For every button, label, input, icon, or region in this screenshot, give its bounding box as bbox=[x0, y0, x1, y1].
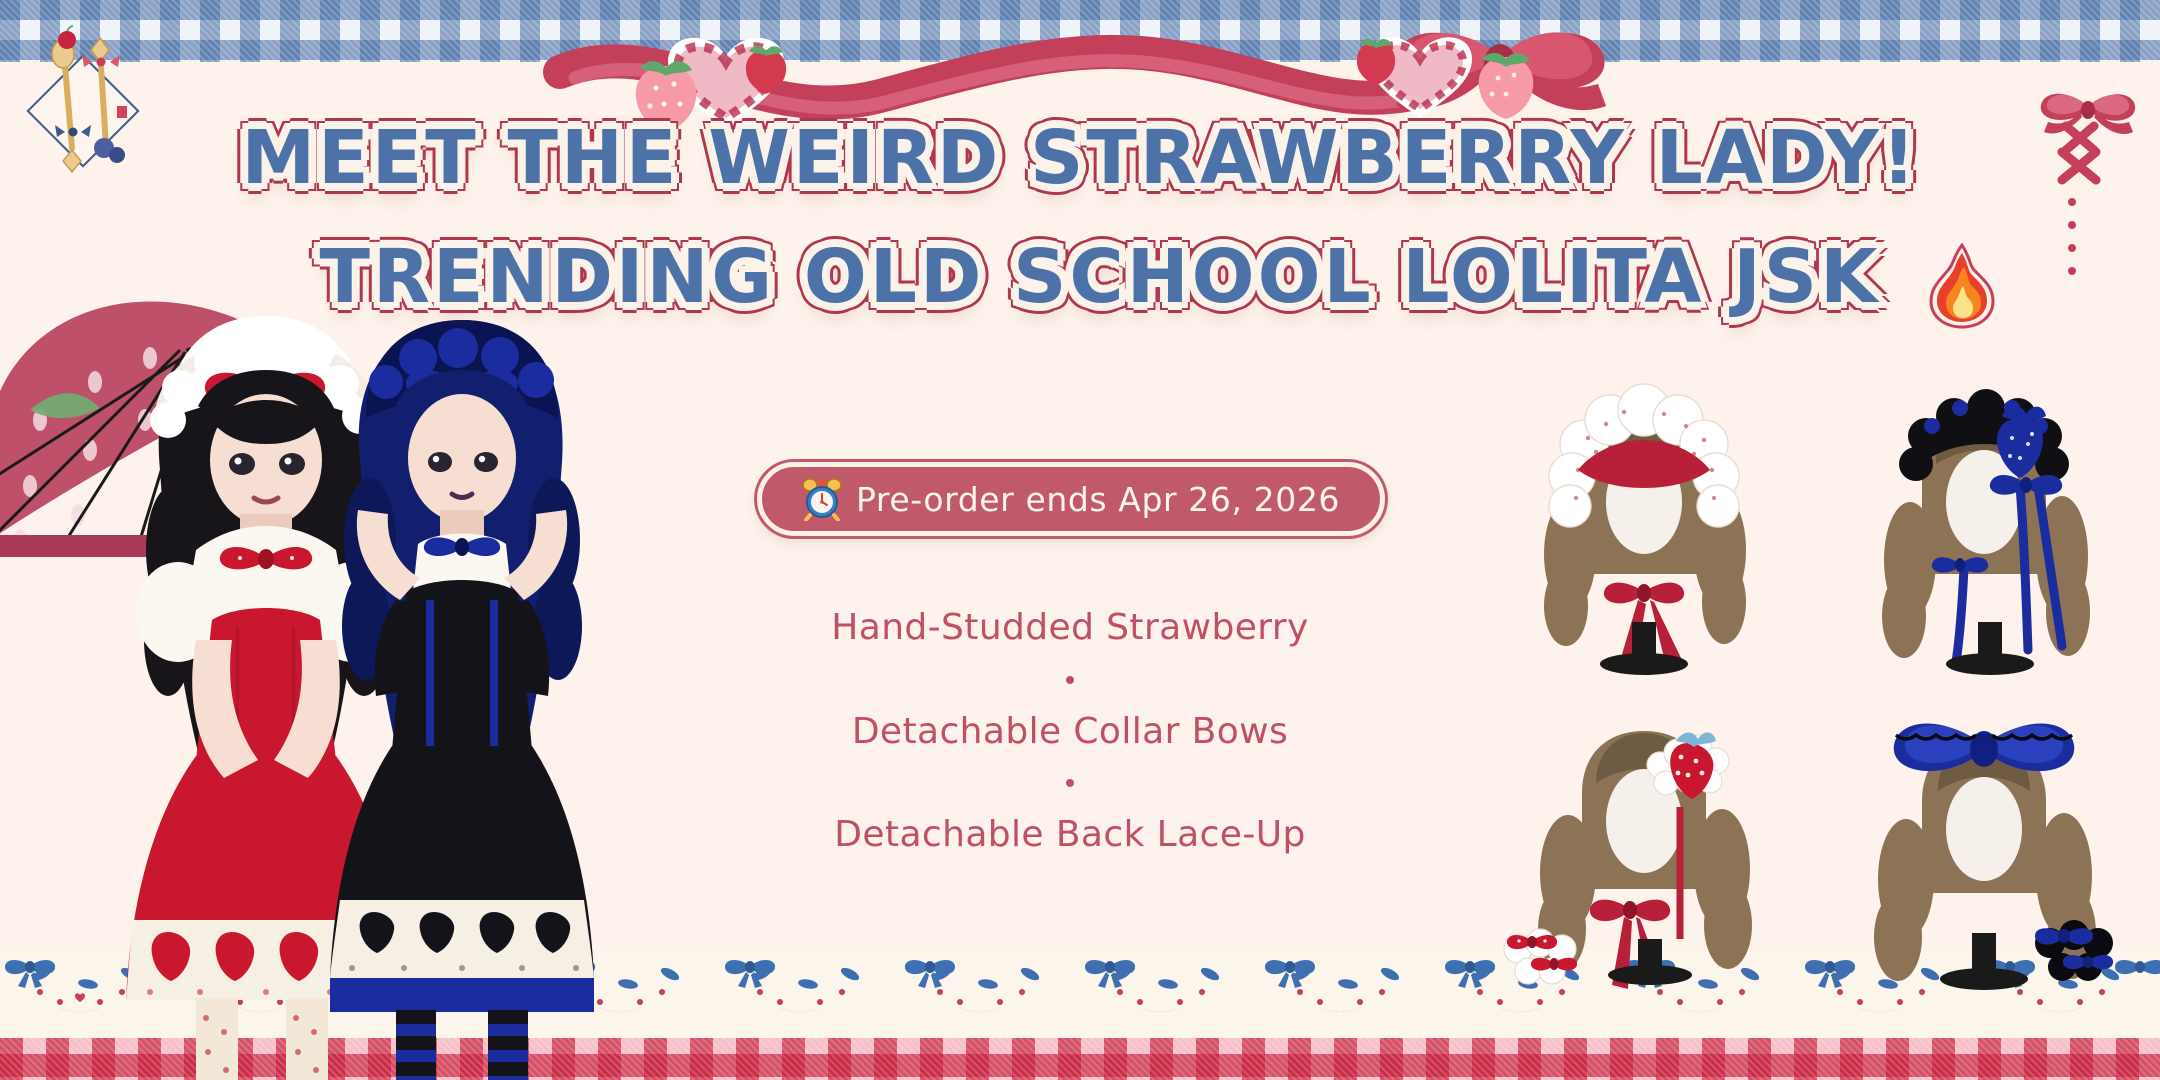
product-grid bbox=[1474, 378, 2154, 1018]
product-blue-bow-headband[interactable] bbox=[1814, 703, 2154, 1018]
preorder-badge-label: Pre-order ends Apr 26, 2026 bbox=[856, 480, 1340, 519]
product-black-blue-bonnet[interactable] bbox=[1814, 378, 2154, 703]
product-white-lace-bonnet[interactable] bbox=[1474, 378, 1814, 703]
alarm-clock-icon bbox=[802, 477, 842, 521]
product-white-lace-bonnet-image bbox=[1474, 378, 1814, 698]
promo-banner: MEET THE WEIRD STRAWBERRY LADY! TRENDING… bbox=[0, 0, 2160, 1080]
preorder-badge[interactable]: Pre-order ends Apr 26, 2026 bbox=[757, 462, 1385, 536]
product-red-strawberry-hairclip-image bbox=[1474, 703, 1814, 1003]
product-red-strawberry-hairclip[interactable] bbox=[1474, 703, 1814, 1018]
product-black-blue-bonnet-image bbox=[1814, 378, 2154, 698]
fire-icon bbox=[1925, 243, 1999, 329]
product-blue-bow-headband-image bbox=[1814, 703, 2154, 1003]
feature-separator-dot bbox=[1066, 779, 1074, 787]
model-blue-jsk bbox=[330, 320, 594, 1080]
feature-item-1: Hand-Studded Strawberry bbox=[620, 608, 1520, 648]
feature-separator-dot bbox=[1066, 676, 1074, 684]
feature-list: Hand-Studded Strawberry Detachable Colla… bbox=[620, 608, 1520, 855]
headline-line-1: MEET THE WEIRD STRAWBERRY LADY! bbox=[0, 112, 2160, 205]
feature-item-3: Detachable Back Lace-Up bbox=[620, 815, 1520, 855]
headline-line-2: TRENDING OLD SCHOOL LOLITA JSK bbox=[0, 231, 2160, 324]
headline-block: MEET THE WEIRD STRAWBERRY LADY! TRENDING… bbox=[0, 112, 2160, 324]
feature-item-2: Detachable Collar Bows bbox=[620, 712, 1520, 752]
